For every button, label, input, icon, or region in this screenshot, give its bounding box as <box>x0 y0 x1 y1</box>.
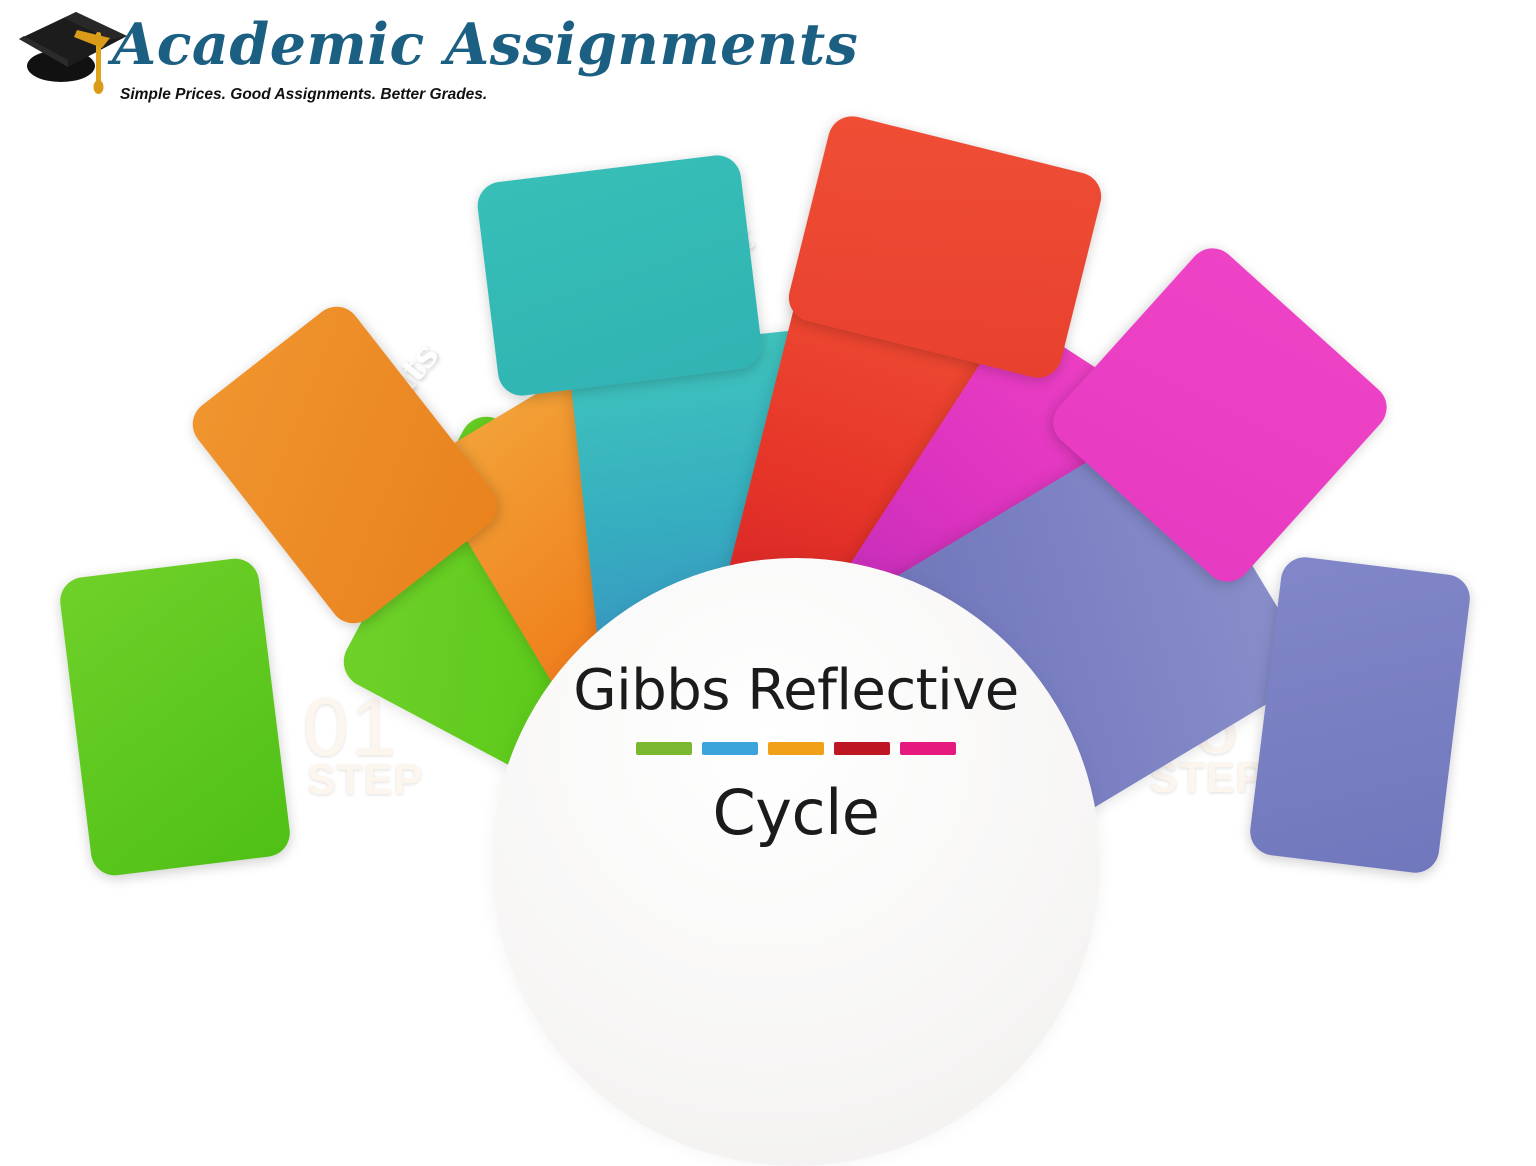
step-label-card-01[interactable] <box>57 556 292 878</box>
brand-logo[interactable]: Academic Assignments Simple Prices. Good… <box>0 0 720 125</box>
divider-dash-red <box>834 742 890 755</box>
gibbs-cycle-diagram: 01 STEP Portrayal 02 STEP Sentiments 03 … <box>0 0 1536 864</box>
divider-dash-orange <box>768 742 824 755</box>
divider-dash-blue <box>702 742 758 755</box>
divider-dash-green <box>636 742 692 755</box>
step-word-01: STEP <box>307 761 523 801</box>
step-label-card-06[interactable] <box>1247 555 1472 876</box>
brand-title: Academic Assignments <box>112 16 858 73</box>
divider-dash-pink <box>900 742 956 755</box>
brand-tagline: Simple Prices. Good Assignments. Better … <box>120 86 487 104</box>
hub-title: Gibbs Reflective <box>492 658 1100 723</box>
cycle-center-hub: Gibbs Reflective Cycle <box>492 558 1100 1166</box>
step-label-card-03[interactable] <box>475 153 764 399</box>
hub-subtitle: Cycle <box>492 776 1100 849</box>
hub-divider <box>492 742 1100 755</box>
